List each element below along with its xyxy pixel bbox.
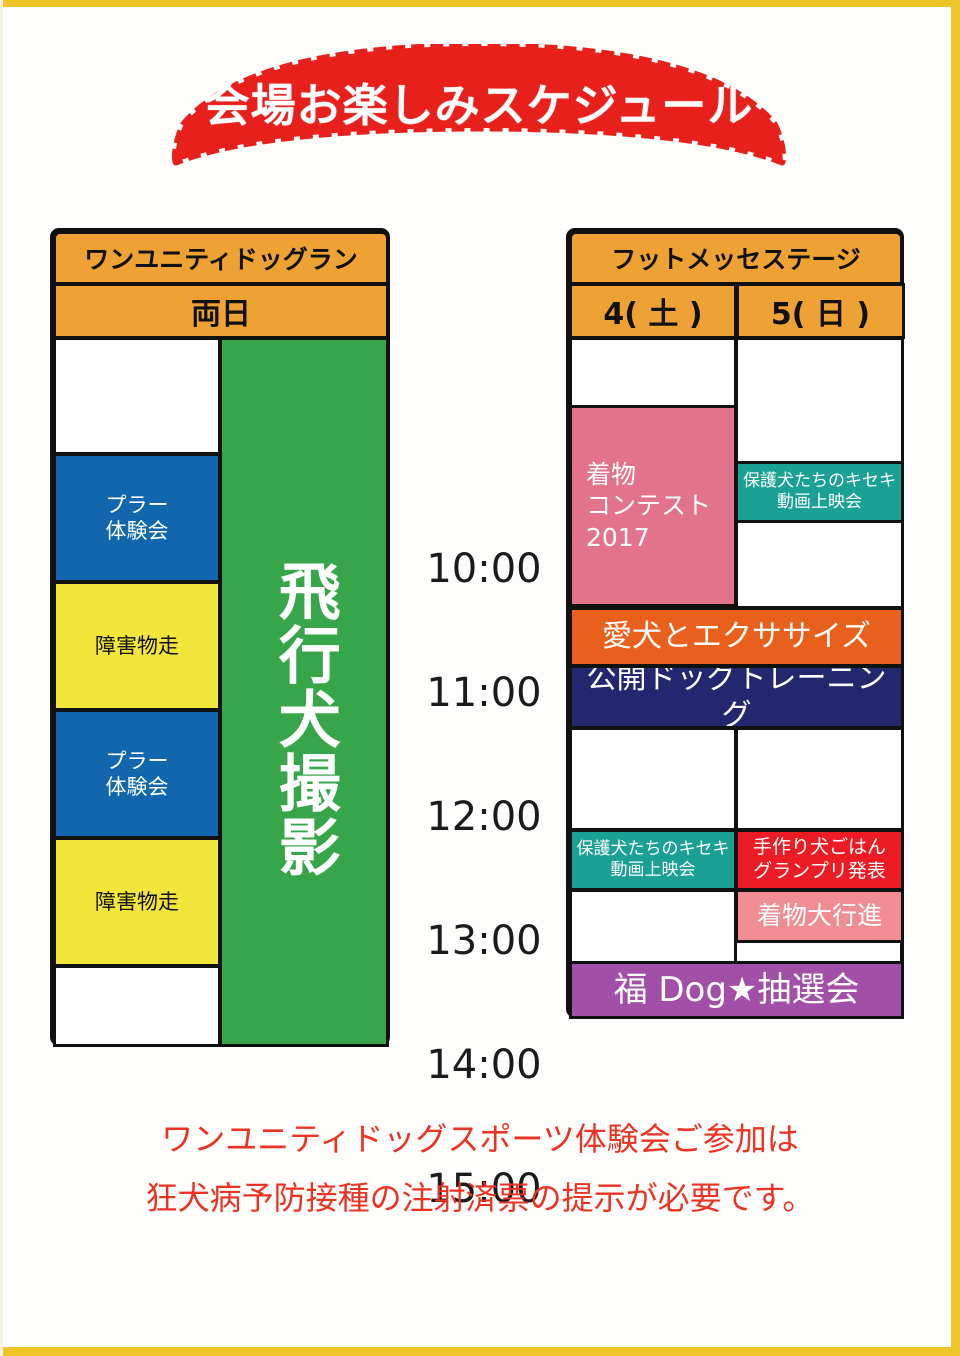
sat-empty-afternoon bbox=[569, 727, 737, 831]
event-rescue-dog-video-sunday: 保護犬たちのキセキ 動画上映会 bbox=[735, 461, 904, 523]
sun-empty-afternoon bbox=[735, 727, 904, 831]
right-schedule-table: フットメッセステージ 4( 土 ) 5( 日 ) 着物 コンテスト 2017 bbox=[566, 228, 904, 1018]
left-slot-1: プラー 体験会 bbox=[53, 453, 221, 583]
right-table-body: 着物 コンテスト 2017 保護犬たちのキセキ 動画上映会 愛犬とエクササイズ … bbox=[569, 337, 903, 1019]
left-slot-5 bbox=[53, 965, 221, 1047]
event-kimono-contest: 着物 コンテスト 2017 bbox=[569, 405, 737, 607]
event-kimono-contest-line2: コンテスト bbox=[586, 490, 711, 521]
page-frame-top bbox=[0, 0, 960, 7]
sat-empty-late bbox=[569, 889, 737, 967]
flight-dog-photo-block: 飛行犬撮影 bbox=[219, 337, 389, 1047]
time-label-1400: 14:00 bbox=[404, 1042, 564, 1088]
left-slot-0 bbox=[53, 337, 221, 455]
event-rescue-dog-video-saturday-line1: 保護犬たちのキセキ bbox=[577, 839, 730, 860]
event-homemade-dogfood-grandprix: 手作り犬ごはん グランプリ発表 bbox=[735, 829, 904, 891]
right-table-venue-header: フットメッセステージ bbox=[569, 231, 903, 285]
left-table-day-header: 両日 bbox=[53, 283, 389, 339]
event-dog-exercise-label: 愛犬とエクササイズ bbox=[602, 618, 871, 656]
flight-dog-photo-label: 飛行犬撮影 bbox=[265, 559, 343, 879]
left-slot-1-line1: プラー bbox=[106, 492, 169, 518]
page-title: 会場お楽しみスケジュール bbox=[168, 44, 790, 172]
event-homemade-dogfood-grandprix-line1: 手作り犬ごはん bbox=[753, 836, 886, 860]
time-label-1200: 12:00 bbox=[404, 794, 564, 840]
right-table-column-header-saturday: 4( 土 ) bbox=[569, 283, 737, 339]
event-rescue-dog-video-sunday-line2: 動画上映会 bbox=[777, 492, 862, 513]
event-rescue-dog-video-saturday-line2: 動画上映会 bbox=[611, 860, 696, 881]
left-slot-3: プラー 体験会 bbox=[53, 709, 221, 839]
time-label-1100: 11:00 bbox=[404, 670, 564, 716]
event-dog-training: 公開ドッグトレーニング bbox=[569, 665, 904, 729]
event-dog-training-label: 公開ドッグトレーニング bbox=[572, 665, 901, 729]
schedule-area: ワンユニティドッグラン 両日 プラー 体験会 障害物走 プラー 体験会 障害物走 bbox=[0, 228, 960, 1048]
left-slot-4: 障害物走 bbox=[53, 837, 221, 967]
left-slot-4-line1: 障害物走 bbox=[95, 889, 179, 915]
left-slot-2-line1: 障害物走 bbox=[95, 633, 179, 659]
page-frame-bottom bbox=[0, 1347, 960, 1356]
footer-note: ワンユニティドッグスポーツ体験会ご参加は 狂犬病予防接種の注射済票の提示が必要で… bbox=[0, 1110, 960, 1228]
event-rescue-dog-video-saturday: 保護犬たちのキセキ 動画上映会 bbox=[569, 829, 737, 891]
left-table-body: プラー 体験会 障害物走 プラー 体験会 障害物走 飛行犬撮影 bbox=[53, 337, 389, 1047]
event-dog-exercise: 愛犬とエクササイズ bbox=[569, 607, 904, 667]
time-label-1000: 10:00 bbox=[404, 546, 564, 592]
left-slot-2: 障害物走 bbox=[53, 581, 221, 711]
poster-page: 会場お楽しみスケジュール ワンユニティドッグラン 両日 プラー 体験会 障害物走… bbox=[0, 0, 960, 1356]
event-kimono-parade-label: 着物大行進 bbox=[757, 900, 882, 931]
left-schedule-table: ワンユニティドッグラン 両日 プラー 体験会 障害物走 プラー 体験会 障害物走 bbox=[50, 228, 390, 1046]
event-fuku-dog-lottery: 福 Dog★抽選会 bbox=[569, 961, 904, 1019]
left-slot-1-line2: 体験会 bbox=[106, 518, 169, 544]
event-rescue-dog-video-sunday-line1: 保護犬たちのキセキ bbox=[743, 471, 896, 492]
left-slot-3-line1: プラー bbox=[106, 748, 169, 774]
left-slot-3-line2: 体験会 bbox=[106, 774, 169, 800]
right-table-column-header-sunday: 5( 日 ) bbox=[736, 283, 905, 339]
event-kimono-contest-line1: 着物 bbox=[586, 459, 636, 490]
event-fuku-dog-lottery-label: 福 Dog★抽選会 bbox=[614, 969, 860, 1012]
event-homemade-dogfood-grandprix-line2: グランプリ発表 bbox=[753, 860, 885, 884]
event-kimono-parade: 着物大行進 bbox=[735, 889, 904, 943]
footer-note-line1: ワンユニティドッグスポーツ体験会ご参加は bbox=[0, 1110, 960, 1169]
left-table-venue-header: ワンユニティドッグラン bbox=[53, 231, 389, 285]
event-kimono-contest-line3: 2017 bbox=[586, 522, 650, 553]
title-banner: 会場お楽しみスケジュール bbox=[168, 44, 790, 172]
footer-note-line2: 狂犬病予防接種の注射済票の提示が必要です。 bbox=[0, 1169, 960, 1228]
time-label-1300: 13:00 bbox=[404, 918, 564, 964]
